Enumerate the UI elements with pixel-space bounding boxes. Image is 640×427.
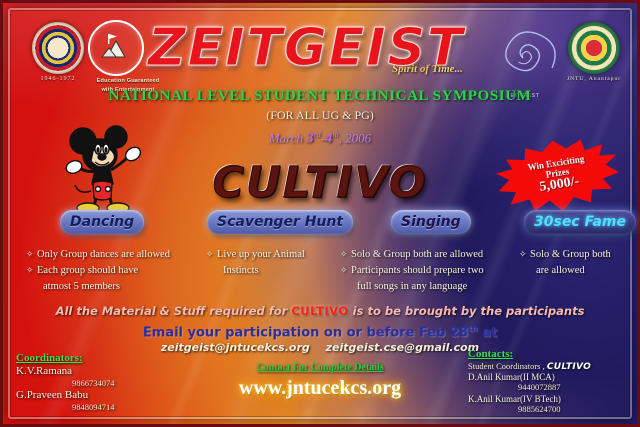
- university-seal-logo: JNTU, Anantapur: [558, 22, 630, 83]
- rule-item-continuation: atmost 5 members: [26, 280, 206, 294]
- spiral-graphic: ZEITGEIST: [487, 24, 559, 96]
- category-badge-scavenger-hunt[interactable]: Scavenger Hunt: [207, 210, 353, 234]
- rule-item: Solo & Group both: [519, 248, 634, 262]
- notice-highlight: CULTIVO: [291, 304, 348, 318]
- email-cta-sup: th: [468, 324, 478, 333]
- contact-phone: 9440072887: [468, 382, 633, 393]
- university-seal-icon: [568, 22, 620, 74]
- category-badge-dancing[interactable]: Dancing: [60, 210, 144, 234]
- rule-item: Only Group dances are allowed: [26, 248, 206, 262]
- prize-amount: 5,000/-: [539, 175, 581, 196]
- rule-item-continuation: are allowed: [519, 264, 634, 278]
- date-sup-1: rd: [314, 130, 321, 139]
- contacts-heading: Contacts:: [468, 348, 633, 360]
- date-day-1: 3: [306, 130, 314, 146]
- subtitle: NATIONAL LEVEL STUDENT TECHNICAL SYMPOSI…: [0, 88, 640, 105]
- rule-item-continuation: full songs in any language: [340, 280, 520, 294]
- tagline: Spirit of Time...: [392, 63, 463, 75]
- email-call-to-action: Email your participation on or before Fe…: [0, 324, 640, 340]
- department-emblem-icon: [88, 20, 144, 76]
- rule-item: Each group should have: [26, 264, 206, 278]
- rules-column-scavenger-hunt: Live up your Animal Instincts: [206, 248, 336, 280]
- contact-name: K.Anil Kumar(IV BTech): [468, 394, 633, 404]
- college-seal-icon: [32, 22, 84, 74]
- contact-name: D.Anil Kumar(II MCA): [468, 372, 633, 382]
- rules-column-30sec-fame: Solo & Group both are allowed: [519, 248, 634, 280]
- rules-columns: Only Group dances are allowed Each group…: [0, 248, 640, 300]
- rule-item-continuation: Instincts: [206, 264, 336, 278]
- contact-phone: 9885624700: [468, 404, 633, 415]
- category-label: Singing: [401, 214, 461, 230]
- contacts-block: Contacts: Student Coordinators , CULTIVO…: [468, 348, 633, 416]
- category-badge-30sec-fame[interactable]: 30sec Fame: [524, 210, 636, 234]
- college-seal-logo: 1946-1972: [22, 22, 94, 84]
- rule-item: Live up your Animal: [206, 248, 336, 262]
- student-coordinators-line: Student Coordinators , CULTIVO: [468, 361, 633, 372]
- rules-column-dancing: Only Group dances are allowed Each group…: [26, 248, 206, 297]
- rule-item: Solo & Group both are allowed: [340, 248, 520, 262]
- email-address-secondary[interactable]: zeitgeist.cse@gmail.com: [326, 341, 480, 354]
- date-prefix: March: [269, 130, 303, 145]
- materials-notice: All the Material & Stuff required for CU…: [0, 304, 640, 318]
- rules-column-singing: Solo & Group both are allowed Participan…: [340, 248, 520, 297]
- date-year: , 2006: [339, 130, 372, 145]
- department-emblem-caption-1: Education Guaranteed: [88, 78, 168, 85]
- college-seal-caption: 1946-1972: [22, 76, 94, 84]
- poster-canvas: 1946-1972 Education Guaranteed with Ente…: [0, 0, 640, 427]
- email-cta-suffix: at: [478, 325, 498, 340]
- category-badge-row: Dancing Scavenger Hunt Singing 30sec Fam…: [0, 210, 640, 238]
- eligibility-note: (FOR ALL UG & PG): [0, 108, 640, 123]
- category-label: Scavenger Hunt: [217, 214, 343, 230]
- university-seal-caption: JNTU, Anantapur: [558, 76, 630, 83]
- coordinator-phone: 9848094714: [16, 402, 186, 413]
- rule-item: Participants should prepare two: [340, 264, 520, 278]
- student-coordinators-event: CULTIVO: [547, 362, 591, 372]
- notice-before: All the Material & Stuff required for: [56, 304, 292, 318]
- category-label: 30sec Fame: [534, 214, 626, 230]
- email-cta-prefix: Email your participation on or before Fe…: [143, 325, 468, 340]
- category-badge-singing[interactable]: Singing: [391, 210, 471, 234]
- student-coordinators-label: Student Coordinators ,: [468, 361, 545, 371]
- notice-after: is to be brought by the participants: [349, 304, 585, 318]
- category-label: Dancing: [70, 214, 134, 230]
